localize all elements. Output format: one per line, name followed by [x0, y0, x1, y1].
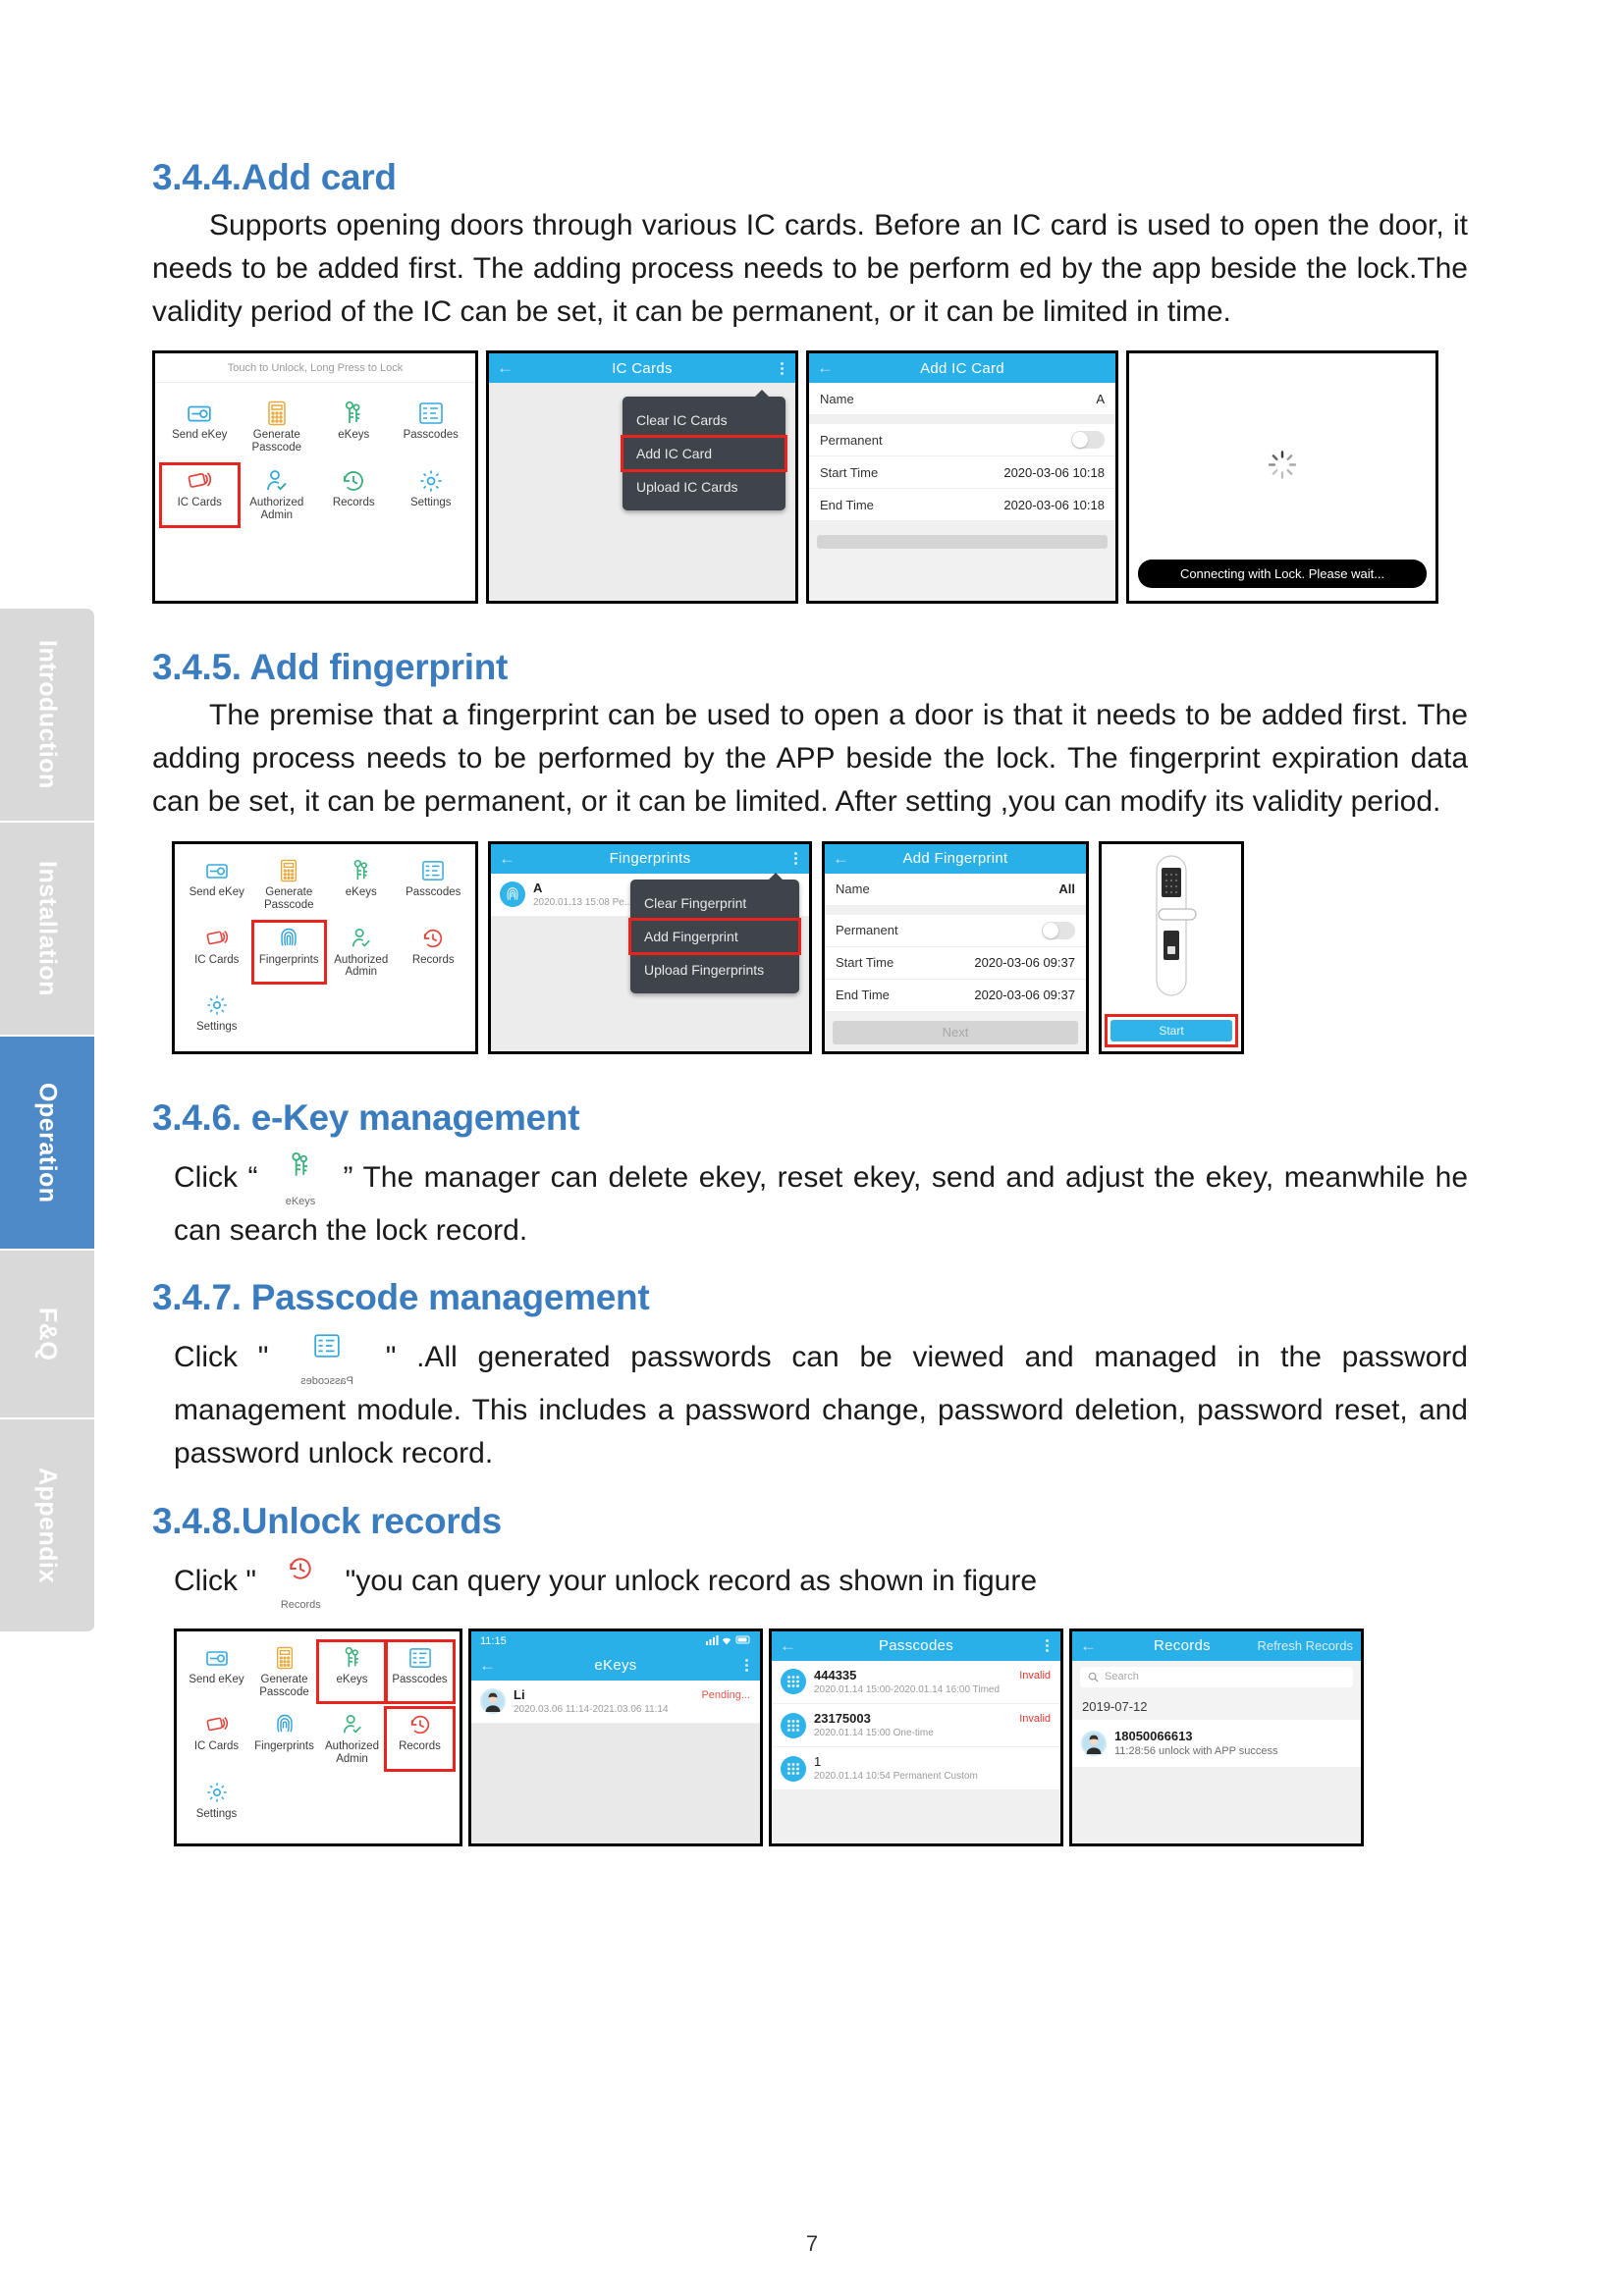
inline-icon-caption: eKeys: [268, 1194, 333, 1209]
screenshot-ekeys: 11:15 ← eKeys: [468, 1629, 763, 1846]
tile-send-ekey[interactable]: Send eKey: [181, 854, 253, 916]
sidebar-item-label: Appendix: [35, 1468, 60, 1583]
form-row-name[interactable]: Name All: [825, 874, 1086, 906]
tile-label: Generate Passcode: [255, 886, 324, 912]
form-row-label: End Time: [836, 988, 890, 1002]
app-bar-title: eKeys: [471, 1657, 760, 1674]
tile-ekeys[interactable]: eKeys: [325, 854, 398, 916]
records-icon: [287, 1555, 314, 1582]
tile-send-ekey[interactable]: Send eKey: [161, 397, 239, 458]
settings-icon: [206, 1780, 228, 1805]
inline-records-icon-wrap: Records: [264, 1552, 337, 1613]
keypad-icon: [781, 1669, 806, 1694]
back-arrow-icon[interactable]: ←: [780, 1636, 796, 1656]
fingerprint-icon: [278, 926, 299, 951]
generate-passcode-icon: [275, 1645, 295, 1671]
tile-fingerprints[interactable]: Fingerprints: [250, 1708, 318, 1770]
sidebar-item-operation[interactable]: Operation: [0, 1037, 94, 1251]
form-divider: [825, 906, 1086, 915]
ic-cards-icon: [205, 1712, 229, 1737]
sidebar-item-label: Installation: [35, 861, 60, 996]
search-icon: [1088, 1672, 1099, 1682]
start-button[interactable]: Start: [1110, 1020, 1232, 1041]
tile-settings[interactable]: Settings: [393, 464, 470, 526]
form-row-label: End Time: [820, 498, 874, 512]
app-bar: ← Fingerprints: [491, 844, 809, 874]
sidebar-item-introduction[interactable]: Introduction: [0, 609, 94, 823]
screenshot-home-records: Send eKey Generate Passcode eKeys: [174, 1629, 462, 1846]
passcode-value: 444335: [814, 1668, 1000, 1683]
tile-records[interactable]: Records: [398, 922, 470, 984]
tile-label: Authorized Admin: [241, 497, 314, 522]
form-row-value: All: [1058, 881, 1075, 896]
menu-item-clear-fingerprint[interactable]: Clear Fingerprint: [630, 886, 799, 920]
screenshot-connecting: Connecting with Lock. Please wait...: [1126, 350, 1438, 604]
tile-label: Records: [412, 954, 455, 967]
passcode-meta: 2020.01.14 10:54 Permanent Custom: [814, 1770, 978, 1783]
screenshot-ic-cards-list: ← IC Cards Clear IC Cards Add IC Card Up…: [486, 350, 798, 604]
send-ekey-icon: [187, 400, 212, 426]
form-row-value: 2020-03-06 10:18: [1003, 498, 1105, 512]
sidebar-item-installation[interactable]: Installation: [0, 823, 94, 1037]
tile-label: Generate Passcode: [241, 429, 314, 454]
screenshot-lock-start: Start: [1099, 841, 1244, 1054]
app-bar-title: IC Cards: [489, 360, 795, 377]
back-arrow-icon[interactable]: ←: [499, 849, 515, 869]
loading-spinner-icon: [1266, 449, 1299, 487]
passcode-list-item[interactable]: 23175003 2020.01.14 15:00 One-time Inval…: [772, 1704, 1060, 1747]
tile-label: Fingerprints: [259, 954, 319, 967]
section-heading-348: 3.4.8.Unlock records: [152, 1501, 1468, 1542]
phone-status-bar: 11:15: [471, 1631, 760, 1651]
tile-label: Generate Passcode: [252, 1674, 316, 1699]
permanent-toggle[interactable]: [1042, 922, 1075, 939]
section-body-348: Click " Records "you can query your unlo…: [174, 1552, 1468, 1613]
overflow-menu: Clear Fingerprint Add Fingerprint Upload…: [630, 880, 799, 993]
tile-ic-cards[interactable]: IC Cards: [161, 464, 239, 526]
form-row-label: Start Time: [820, 465, 878, 480]
form-row-end-time[interactable]: End Time 2020-03-06 10:18: [809, 489, 1115, 521]
fingerprint-avatar-icon: [500, 881, 525, 907]
screenshot-home-ic: Touch to Unlock, Long Press to Lock Send…: [152, 350, 478, 604]
form-row-start-time[interactable]: Start Time 2020-03-06 09:37: [825, 947, 1086, 980]
tile-label: Passcodes: [406, 886, 460, 899]
tile-authorized-admin[interactable]: Authorized Admin: [239, 464, 316, 526]
tile-label: Settings: [196, 1021, 238, 1034]
tile-label: Authorized Admin: [327, 954, 396, 980]
connecting-toast: Connecting with Lock. Please wait...: [1138, 560, 1427, 588]
section-body-344: Supports opening doors through various I…: [152, 204, 1468, 333]
form-row-name[interactable]: Name A: [809, 383, 1115, 415]
tile-label: eKeys: [338, 429, 369, 442]
search-bar: Search: [1072, 1661, 1361, 1693]
tile-label: Records: [333, 497, 375, 509]
form-row-start-time[interactable]: Start Time 2020-03-06 10:18: [809, 456, 1115, 489]
sidebar-item-faq[interactable]: F&Q: [0, 1251, 94, 1419]
form-row-value: 2020-03-06 09:37: [974, 955, 1075, 970]
form-divider: [809, 415, 1115, 424]
app-bar: ← Records Refresh Records: [1072, 1631, 1361, 1661]
tile-label: Settings: [410, 497, 452, 509]
tile-passcodes[interactable]: Passcodes: [398, 854, 470, 916]
menu-caret-icon: [754, 390, 770, 398]
screenshot-add-fingerprint: ← Add Fingerprint Name All Permanent Sta…: [822, 841, 1089, 1054]
ekeys-icon: [288, 1151, 313, 1179]
click-suffix-348: "you can query your unlock record as sho…: [346, 1565, 1037, 1597]
tile-label: Send eKey: [172, 429, 227, 442]
record-user: 18050066613: [1114, 1729, 1278, 1744]
inline-icon-caption: Passcodes: [289, 1373, 365, 1389]
empty-list-area: [471, 1724, 760, 1843]
click-prefix-346: Click “: [174, 1161, 258, 1194]
ekeys-icon: [351, 858, 372, 883]
ic-cards-icon: [205, 926, 229, 951]
tile-ic-cards[interactable]: IC Cards: [181, 922, 253, 984]
section-heading-346: 3.4.6. e-Key management: [152, 1097, 1468, 1139]
tile-label: IC Cards: [178, 497, 222, 509]
form-row-label: Name: [836, 881, 870, 896]
overflow-menu-icon[interactable]: [745, 1659, 748, 1672]
next-button[interactable]: Next: [833, 1021, 1078, 1044]
tile-label: Records: [399, 1740, 441, 1753]
generate-passcode-icon: [266, 400, 288, 426]
passcode-value: 1: [814, 1754, 978, 1770]
avatar: [480, 1688, 506, 1714]
tile-passcodes[interactable]: Passcodes: [393, 397, 470, 458]
tile-generate-passcode[interactable]: Generate Passcode: [239, 397, 316, 458]
section-heading-344: 3.4.4.Add card: [152, 157, 1468, 198]
sidebar-item-label: F&Q: [35, 1308, 60, 1361]
ekey-name: Li: [514, 1687, 669, 1703]
function-grid: Send eKey Generate Passcode eKeys: [177, 1631, 460, 1834]
search-placeholder: Search: [1105, 1671, 1139, 1682]
door-lock-illustration-icon: [1145, 852, 1198, 999]
avatar: [1081, 1731, 1107, 1756]
tile-label: IC Cards: [194, 954, 239, 967]
status-indicators-icon: [706, 1634, 751, 1648]
menu-item-add-fingerprint[interactable]: Add Fingerprint: [630, 920, 799, 953]
records-icon: [421, 926, 445, 951]
send-ekey-icon: [205, 858, 229, 883]
back-arrow-icon[interactable]: ←: [817, 358, 834, 378]
section-body-345: The premise that a fingerprint can be us…: [152, 694, 1468, 823]
menu-item-upload-fingerprints[interactable]: Upload Fingerprints: [630, 953, 799, 987]
form-row-label: Name: [820, 392, 854, 406]
fingerprint-name: A: [533, 881, 632, 896]
overflow-menu-icon[interactable]: [794, 852, 797, 865]
passcode-value: 23175003: [814, 1711, 934, 1727]
page-number: 7: [0, 2231, 1624, 2257]
ekey-list-item[interactable]: Li 2020.03.06 11:14-2021.03.06 11:14 Pen…: [471, 1681, 760, 1724]
inline-icon-caption: Records: [264, 1597, 337, 1613]
authorized-admin-icon: [264, 468, 290, 494]
settings-icon: [419, 468, 443, 494]
passcode-list-item[interactable]: 1 2020.01.14 10:54 Permanent Custom: [772, 1747, 1060, 1790]
empty-list-area: [1072, 1768, 1361, 1842]
figure-row-records: Send eKey Generate Passcode eKeys: [152, 1629, 1468, 1846]
side-tab-strip: Introduction Installation Operation F&Q …: [0, 609, 94, 1633]
app-bar-title: Add IC Card: [809, 360, 1115, 377]
status-badge: Pending...: [701, 1689, 750, 1701]
back-arrow-icon[interactable]: ←: [479, 1656, 496, 1676]
passcode-meta: 2020.01.14 15:00-2020.01.14 16:00 Timed: [814, 1683, 1000, 1696]
refresh-records-button[interactable]: Refresh Records: [1257, 1638, 1353, 1653]
tile-label: Settings: [196, 1808, 238, 1821]
date-group-header: 2019-07-12: [1072, 1693, 1361, 1720]
fingerprint-meta: 2020.01.13 15:08 Pe...: [533, 896, 632, 909]
tile-authorized-admin[interactable]: Authorized Admin: [318, 1708, 386, 1770]
authorized-admin-icon: [341, 1712, 364, 1737]
tile-label: eKeys: [346, 886, 377, 899]
back-arrow-icon[interactable]: ←: [497, 358, 514, 378]
sidebar-item-label: Operation: [35, 1083, 60, 1203]
tile-send-ekey[interactable]: Send eKey: [183, 1641, 250, 1703]
ekeys-icon: [342, 1645, 363, 1671]
tile-label: Authorized Admin: [320, 1740, 384, 1766]
passcodes-icon: [418, 400, 444, 426]
send-ekey-icon: [205, 1645, 229, 1671]
touch-hint-text: Touch to Unlock, Long Press to Lock: [155, 353, 475, 383]
settings-icon: [206, 992, 228, 1018]
keypad-icon: [781, 1756, 806, 1782]
tile-authorized-admin[interactable]: Authorized Admin: [325, 922, 398, 984]
authorized-admin-icon: [350, 926, 373, 951]
form-row-end-time[interactable]: End Time 2020-03-06 09:37: [825, 980, 1086, 1012]
permanent-toggle[interactable]: [1071, 431, 1105, 449]
search-input[interactable]: Search: [1080, 1667, 1353, 1687]
menu-item-add-ic-card[interactable]: Add IC Card: [623, 437, 785, 470]
inline-passcodes-icon-wrap: Passcodes: [289, 1328, 365, 1389]
submit-button[interactable]: [817, 535, 1108, 549]
function-grid: Send eKey Generate Passcode eKeys: [155, 383, 475, 532]
section-body-346: Click “ eKeys ” The manager can delete e…: [174, 1148, 1468, 1253]
tile-settings[interactable]: Settings: [183, 1776, 250, 1827]
records-icon: [408, 1712, 432, 1737]
form-row-label: Permanent: [820, 433, 883, 448]
status-badge: Invalid: [1019, 1670, 1051, 1682]
tile-label: Send eKey: [189, 886, 244, 899]
tile-ekeys[interactable]: eKeys: [318, 1641, 386, 1703]
screenshot-passcodes: ← Passcodes 444335 2020.01.14 15:00-2020…: [769, 1629, 1063, 1846]
sidebar-item-label: Introduction: [35, 640, 60, 789]
app-bar: ← Add Fingerprint: [825, 844, 1086, 874]
app-bar-title: Add Fingerprint: [825, 850, 1086, 867]
passcodes-icon: [421, 858, 445, 883]
screenshot-add-ic-card: ← Add IC Card Name A Permanent Start Tim…: [806, 350, 1118, 604]
tile-settings[interactable]: Settings: [181, 988, 253, 1040]
tile-generate-passcode[interactable]: Generate Passcode: [250, 1641, 318, 1703]
tile-generate-passcode[interactable]: Generate Passcode: [253, 854, 326, 916]
click-prefix-348: Click ": [174, 1565, 256, 1597]
click-prefix-347: Click ": [174, 1341, 268, 1373]
screenshot-home-fingerprint: Send eKey Generate Passcode eKeys: [172, 841, 478, 1054]
ic-cards-icon: [187, 468, 212, 494]
click-suffix-346: ” The manager can delete ekey, reset eke…: [174, 1161, 1468, 1247]
menu-caret-icon: [768, 873, 784, 881]
generate-passcode-icon: [279, 858, 298, 883]
app-bar: ← IC Cards: [489, 353, 795, 383]
status-badge: Invalid: [1019, 1713, 1051, 1725]
app-bar-title: Fingerprints: [491, 850, 809, 867]
figure-row-fingerprint: Send eKey Generate Passcode eKeys: [152, 841, 1468, 1054]
empty-list-area: [772, 1790, 1060, 1842]
menu-item-upload-ic-cards[interactable]: Upload IC Cards: [623, 470, 785, 504]
overflow-menu-icon[interactable]: [781, 362, 784, 375]
form-row-label: Permanent: [836, 923, 898, 937]
form-row-value: 2020-03-06 10:18: [1003, 465, 1105, 480]
overflow-menu-icon[interactable]: [1046, 1639, 1049, 1652]
app-bar: ← Passcodes: [772, 1631, 1060, 1661]
keypad-icon: [781, 1713, 806, 1738]
tile-label: IC Cards: [194, 1740, 239, 1753]
tile-label: Passcodes: [392, 1674, 447, 1686]
function-grid: Send eKey Generate Passcode eKeys: [175, 844, 475, 1046]
overflow-menu: Clear IC Cards Add IC Card Upload IC Car…: [623, 397, 785, 510]
section-body-347: Click " Passcodes " .All generated passw…: [174, 1328, 1468, 1474]
document-page: Introduction Installation Operation F&Q …: [0, 0, 1624, 2296]
click-suffix-347: " .All generated passwords can be viewed…: [174, 1341, 1468, 1469]
back-arrow-icon[interactable]: ←: [833, 849, 849, 869]
section-heading-347: 3.4.7. Passcode management: [152, 1277, 1468, 1318]
form-row-value: 2020-03-06 09:37: [974, 988, 1075, 1002]
back-arrow-icon[interactable]: ←: [1080, 1636, 1097, 1656]
screenshot-records: ← Records Refresh Records Search 2019-07…: [1069, 1629, 1364, 1846]
form-row-value: A: [1096, 392, 1105, 406]
section-heading-345: 3.4.5. Add fingerprint: [152, 647, 1468, 688]
tile-records[interactable]: Records: [386, 1708, 454, 1770]
record-detail: 11:28:56 unlock with APP success: [1114, 1744, 1278, 1758]
menu-item-clear-ic-cards[interactable]: Clear IC Cards: [623, 403, 785, 437]
passcode-list-item[interactable]: 444335 2020.01.14 15:00-2020.01.14 16:00…: [772, 1661, 1060, 1704]
ekeys-icon: [342, 400, 365, 426]
app-bar-title: Passcodes: [772, 1637, 1060, 1654]
passcode-meta: 2020.01.14 15:00 One-time: [814, 1727, 934, 1739]
records-icon: [341, 468, 366, 494]
status-time: 11:15: [480, 1635, 507, 1647]
passcodes-icon: [313, 1333, 341, 1359]
tile-passcodes[interactable]: Passcodes: [386, 1641, 454, 1703]
tile-ekeys[interactable]: eKeys: [315, 397, 393, 458]
ekey-validity: 2020.03.06 11:14-2021.03.06 11:14: [514, 1703, 669, 1716]
tile-records[interactable]: Records: [315, 464, 393, 526]
sidebar-item-appendix[interactable]: Appendix: [0, 1419, 94, 1633]
form-row-permanent[interactable]: Permanent: [809, 424, 1115, 456]
tile-label: eKeys: [337, 1674, 368, 1686]
fingerprint-icon: [274, 1712, 296, 1737]
passcodes-icon: [408, 1645, 432, 1671]
screenshot-fingerprints-list: ← Fingerprints A 2020.01.13 15:08 Pe...: [488, 841, 812, 1054]
document-content: 3.4.4.Add card Supports opening doors th…: [152, 0, 1468, 1846]
app-bar: ← Add IC Card: [809, 353, 1115, 383]
form-row-permanent[interactable]: Permanent: [825, 915, 1086, 947]
tile-label: Fingerprints: [254, 1740, 314, 1753]
inline-ekeys-icon-wrap: eKeys: [268, 1148, 333, 1209]
app-bar: ← eKeys: [471, 1651, 760, 1681]
tile-fingerprints[interactable]: Fingerprints: [253, 922, 326, 984]
tile-ic-cards[interactable]: IC Cards: [183, 1708, 250, 1770]
form-row-label: Start Time: [836, 955, 893, 970]
tile-label: Passcodes: [404, 429, 459, 442]
record-list-item[interactable]: 18050066613 11:28:56 unlock with APP suc…: [1072, 1720, 1361, 1769]
figure-row-ic-card: Touch to Unlock, Long Press to Lock Send…: [152, 350, 1468, 604]
tile-label: Send eKey: [189, 1674, 244, 1686]
